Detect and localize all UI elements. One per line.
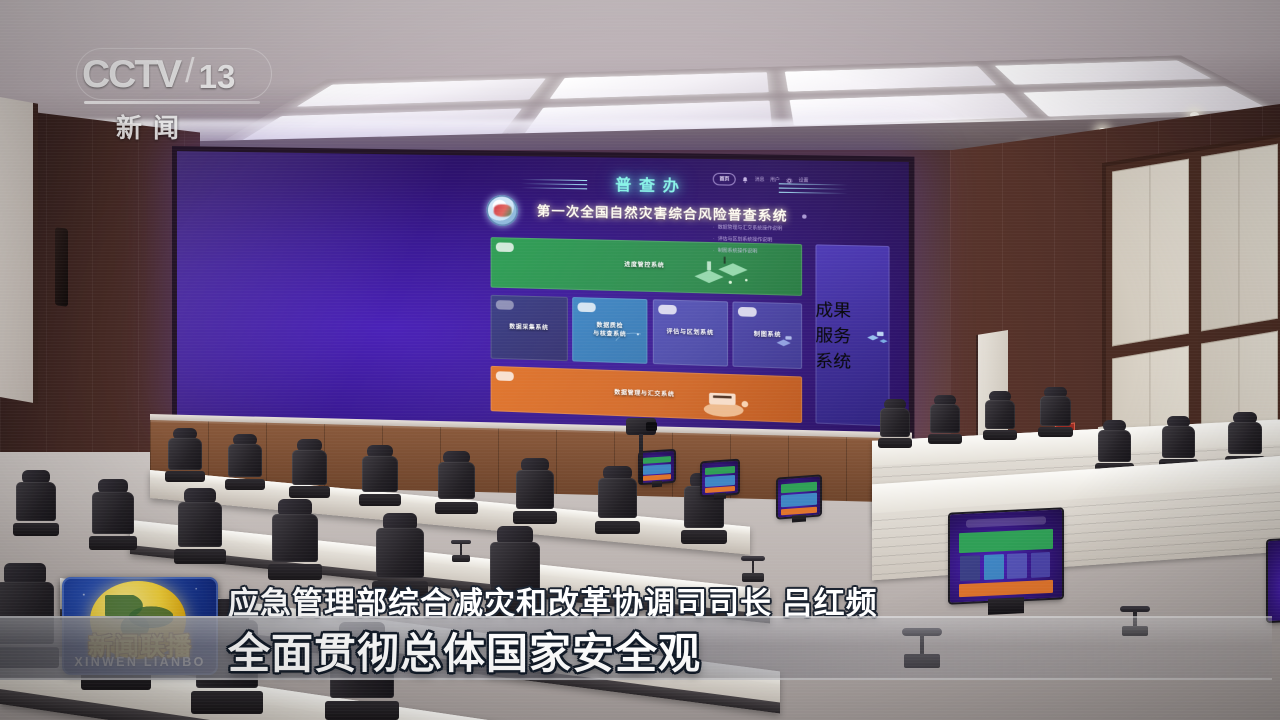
chair[interactable]: [92, 492, 134, 550]
monitor-stand: [792, 515, 805, 523]
camera-on-tripod: [626, 418, 656, 484]
tile-label: 数据采集系统: [509, 323, 548, 333]
monitor-screen[interactable]: [778, 477, 820, 518]
conference-microphone[interactable]: [452, 540, 470, 562]
monitor-stand: [714, 493, 726, 500]
acoustic-panel: [1112, 159, 1189, 347]
microphone-stem: [460, 544, 462, 555]
chair[interactable]: [168, 438, 202, 482]
desk-monitor[interactable]: [778, 477, 820, 518]
channel-bug-underline: [84, 101, 260, 104]
chair[interactable]: [228, 444, 262, 490]
tile-label: 评估与区划系统: [666, 328, 713, 338]
chair[interactable]: [438, 462, 475, 514]
camera-lens: [646, 422, 657, 431]
channel-bug: CCTV / 13 新闻: [82, 52, 282, 138]
chair[interactable]: [16, 482, 56, 536]
ceiling-light-panel: [549, 72, 769, 99]
desk-monitor[interactable]: [702, 461, 738, 496]
headline-text: 全面贯彻总体国家安全观: [228, 620, 701, 681]
acoustic-panel: [1201, 144, 1278, 332]
chair[interactable]: [930, 404, 960, 444]
chair[interactable]: [985, 400, 1015, 440]
acoustic-panel: [0, 96, 38, 404]
led-video-wall[interactable]: 普查办 第一次全国自然灾害综合风险普查系统 进度管控系统: [172, 146, 914, 450]
broadcast-frame: 普查办 第一次全国自然灾害综合风险普查系统 进度管控系统: [0, 0, 1280, 720]
chair[interactable]: [362, 456, 398, 506]
channel-bug-outline: [76, 48, 272, 100]
screen-bezel: [172, 146, 914, 450]
chair[interactable]: [598, 478, 637, 534]
chair[interactable]: [880, 408, 910, 448]
microphone-base: [452, 555, 470, 562]
channel-name-zh: 新闻: [116, 108, 190, 145]
ceiling-light-panel: [785, 66, 996, 91]
monitor-screen[interactable]: [702, 461, 738, 496]
wall-speaker: [55, 227, 68, 307]
tile-label: 进度管控系统: [624, 261, 664, 270]
chair[interactable]: [292, 450, 327, 498]
chair[interactable]: [1040, 396, 1071, 437]
ceiling-light-panel: [994, 61, 1211, 85]
chair[interactable]: [516, 470, 554, 524]
ceiling-light-panel: [296, 78, 545, 106]
tile-label: 数据质检与核查系统: [593, 321, 626, 339]
chair[interactable]: [178, 502, 222, 564]
tripod-leg: [639, 434, 643, 484]
tile-label: 制图系统: [754, 330, 781, 339]
